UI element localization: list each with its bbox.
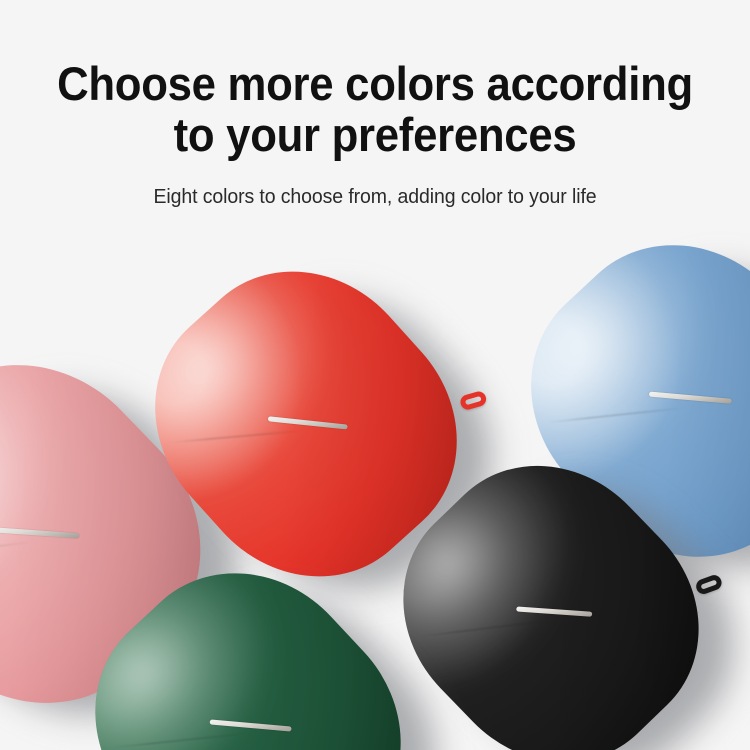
case-lid-seam-black: [420, 620, 550, 638]
page-title: Choose more colors according to your pre…: [26, 58, 724, 160]
case-lid-seam-blue: [548, 407, 685, 423]
case-lid-seam-pink: [0, 541, 31, 561]
banner-header: Choose more colors according to your pre…: [0, 0, 750, 210]
page-subtitle: Eight colors to choose from, adding colo…: [19, 184, 732, 210]
case-lid-seam-red: [171, 429, 305, 443]
case-lid-seam-green: [111, 733, 246, 749]
product-banner: Choose more colors according to your pre…: [0, 0, 750, 750]
